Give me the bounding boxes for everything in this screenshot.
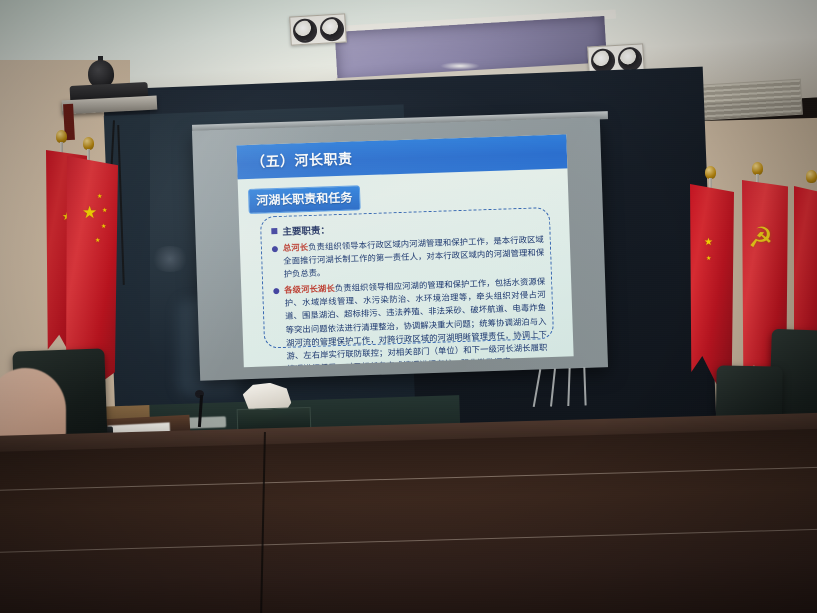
slide-subtitle: 河湖长职责和任务 — [256, 191, 352, 208]
flag-star-icon: ★ — [101, 224, 106, 230]
slide-body: 主要职责： 总河长负责组织领导本行政区域内河湖管理和保护工作，是本行政区域全面推… — [271, 215, 548, 367]
slide-title: （五）河长职责 — [251, 149, 353, 172]
projection-screen: （五）河长职责 河湖长职责和任务 主要职责： 总河长负责组织领导本行政区域内河湖… — [192, 117, 608, 380]
hammer-sickle-icon: ☭ — [748, 224, 773, 252]
round-bullet-icon — [273, 288, 279, 294]
glass-reflection-light — [150, 246, 190, 272]
flag-star-icon: ★ — [95, 238, 100, 244]
flagpole-finial — [806, 170, 817, 183]
screen-leg — [567, 368, 570, 406]
cove-light-glow — [440, 62, 480, 70]
presentation-slide: （五）河长职责 河湖长职责和任务 主要职责： 总河长负责组织领导本行政区域内河湖… — [236, 134, 573, 367]
speaker-rostrum — [0, 428, 817, 613]
lamp-icon — [292, 18, 317, 43]
slide-bullet-2-highlight: 各级河长湖长 — [284, 283, 335, 295]
slide-bullet-2-text: 各级河长湖长负责组织领导相应河湖的管理和保护工作，包括水资源保护、水域岸线管理、… — [284, 275, 548, 367]
screen-leg — [550, 369, 556, 407]
screen-leg — [583, 367, 586, 405]
flag-star-icon: ★ — [97, 194, 102, 200]
lamp-icon — [617, 46, 642, 71]
square-bullet-icon — [271, 228, 277, 234]
flag-star-icon: ★ — [704, 238, 713, 248]
round-bullet-icon — [272, 246, 278, 252]
slide-lead-label: 主要职责： — [282, 222, 330, 238]
lamp-icon — [319, 16, 344, 41]
flag-star-icon: ★ — [706, 256, 711, 262]
slide-bullet-1-text: 总河长负责组织领导本行政区域内河湖管理和保护工作，是本行政区域全面推行河湖长制工… — [283, 233, 545, 281]
china-national-flag-right-1: ★ ★ — [690, 184, 734, 384]
flag-star-icon: ★ — [82, 204, 97, 221]
slide-bullet-1: 总河长负责组织领导本行政区域内河湖管理和保护工作，是本行政区域全面推行河湖长制工… — [272, 233, 545, 281]
spotlight-pair-left-icon — [289, 13, 347, 45]
slide-bullet-1-body: 负责组织领导本行政区域内河湖管理和保护工作，是本行政区域全面推行河湖长制工作的第… — [283, 234, 544, 279]
flag-star-icon: ★ — [102, 208, 107, 214]
screen-stand-legs — [529, 367, 610, 410]
tissue-box-label — [186, 416, 226, 428]
screen-leg — [533, 369, 542, 407]
slide-bullet-2: 各级河长湖长负责组织领导相应河湖的管理和保护工作，包括水资源保护、水域岸线管理、… — [273, 275, 548, 367]
slide-subtitle-box: 河湖长职责和任务 — [248, 185, 361, 214]
slide-bullet-1-highlight: 总河长 — [283, 242, 309, 253]
conference-room-photo: ★ ★ ★ ★ ★ ★ ★ ★ ★ ☭ （五）河长职责 河湖长职责和任务 — [0, 0, 817, 613]
